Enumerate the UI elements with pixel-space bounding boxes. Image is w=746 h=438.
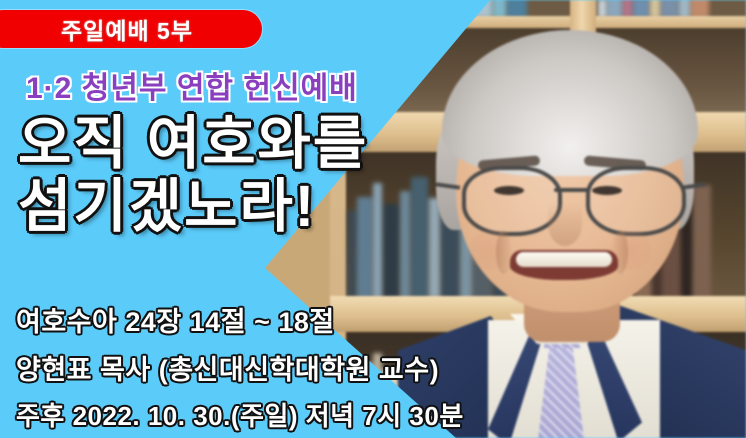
speaker-name: 양현표 목사 (총신대신학대학원 교수) [16, 348, 464, 387]
sermon-details: 여호수아 24장 14절 ~ 18절 양현표 목사 (총신대신학대학원 교수) … [16, 300, 464, 433]
service-datetime: 주후 2022. 10. 30.(주일) 저녁 7시 30분 [16, 396, 464, 433]
event-subtitle: 1·2 청년부 연합 헌신예배 [26, 63, 358, 107]
service-badge-label: 주일예배 5부 [61, 12, 193, 46]
sermon-headline: 오직 여호와를 섬기겠노라! [18, 116, 368, 236]
headline-line-1: 오직 여호와를 [18, 116, 368, 173]
service-badge: 주일예배 5부 [0, 10, 262, 48]
headline-line-2: 섬기겠노라! [18, 179, 368, 236]
text-layer: 주일예배 5부 1·2 청년부 연합 헌신예배 오직 여호와를 섬기겠노라! 여… [0, 0, 746, 438]
sermon-poster: 주일예배 5부 1·2 청년부 연합 헌신예배 오직 여호와를 섬기겠노라! 여… [0, 0, 746, 438]
scripture-reference: 여호수아 24장 14절 ~ 18절 [16, 300, 464, 339]
